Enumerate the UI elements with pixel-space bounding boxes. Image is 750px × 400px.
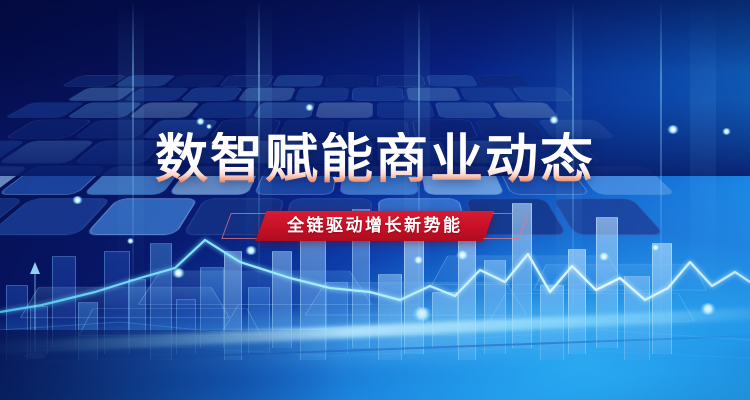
glow-dot [412, 307, 432, 321]
glow-dot [700, 303, 716, 315]
subtitle-ribbon: 全链驱动增长新势能 [0, 211, 750, 241]
glow-dot [305, 104, 314, 111]
glow-dot [598, 252, 610, 261]
glow-dot [651, 244, 660, 251]
glow-dot [72, 196, 83, 204]
subtitle-text: 全链驱动增长新势能 [287, 214, 463, 238]
page-title: 数智赋能商业动态 [155, 132, 595, 188]
glow-dot [172, 268, 185, 278]
trend-line-chart [0, 0, 750, 400]
glow-dot [413, 256, 424, 264]
glow-dot [196, 118, 205, 125]
glow-dot [245, 246, 257, 255]
promo-banner: 数智赋能商业动态 全链驱动增长新势能 [0, 0, 750, 400]
arrow-marker [24, 262, 46, 359]
title-block: 数智赋能商业动态 [0, 132, 750, 188]
ribbon-body: 全链驱动增长新势能 [256, 211, 494, 241]
glow-dot [456, 250, 469, 260]
glow-dot [549, 116, 559, 124]
